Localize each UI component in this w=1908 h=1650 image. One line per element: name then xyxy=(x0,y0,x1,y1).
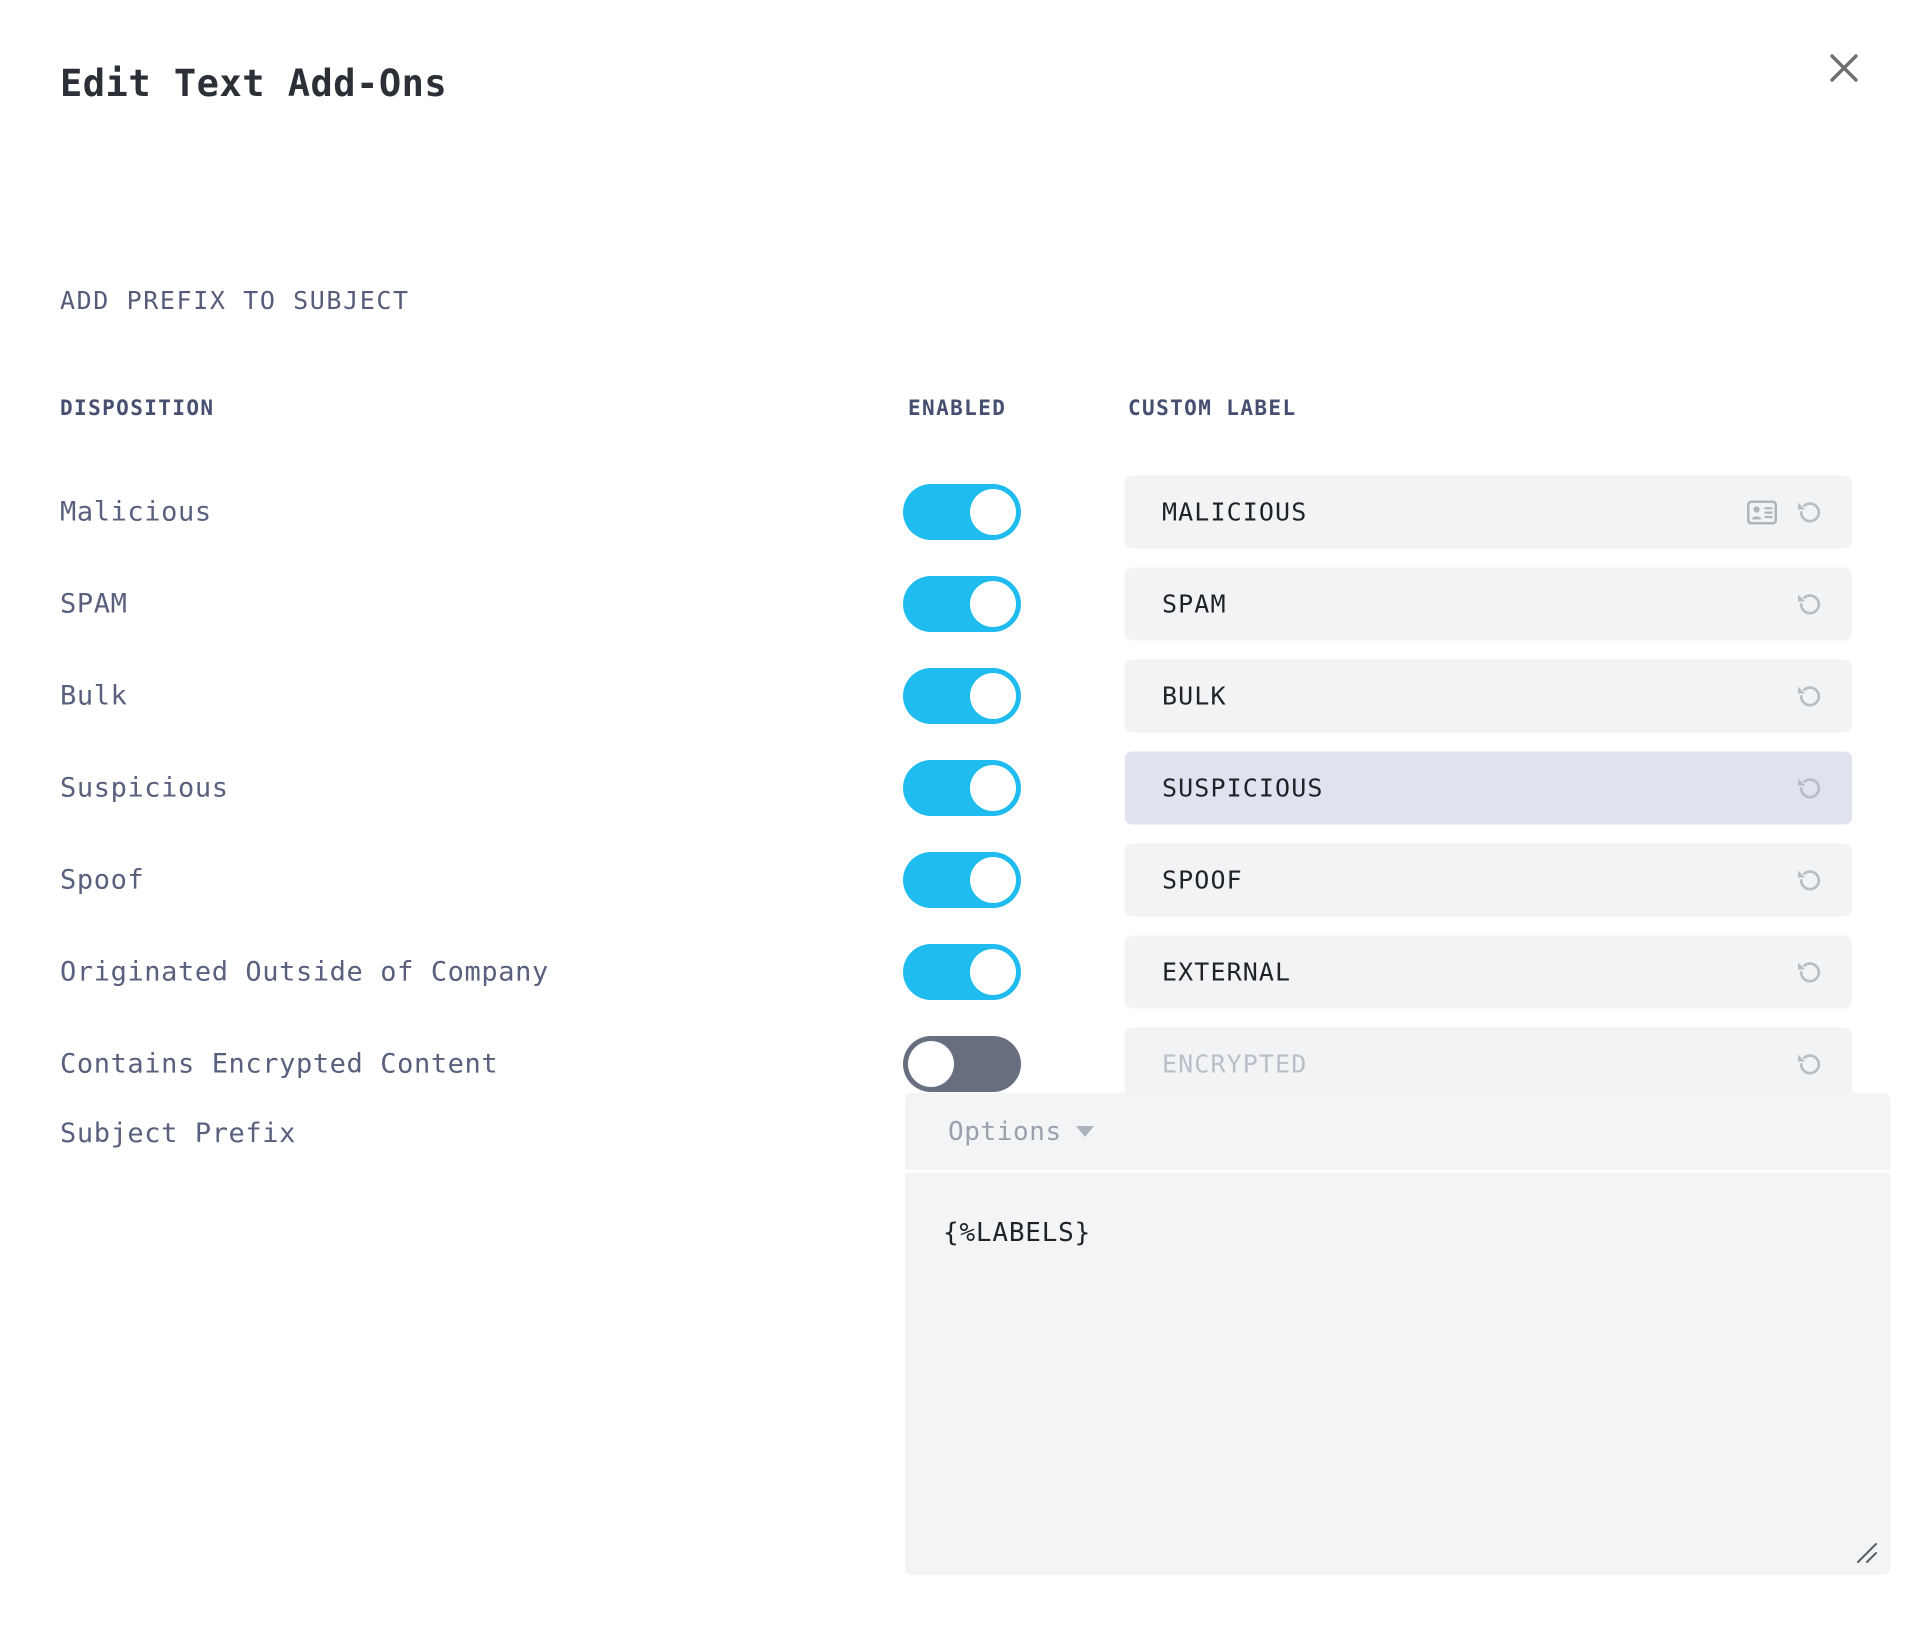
reset-icon xyxy=(1794,864,1826,896)
disposition-label: Originated Outside of Company xyxy=(60,957,549,988)
table-row: SpoofSPOOF xyxy=(0,834,1908,926)
custom-label-input[interactable]: ENCRYPTED xyxy=(1125,1028,1852,1101)
enabled-toggle[interactable] xyxy=(903,1036,1021,1092)
custom-label-input[interactable]: BULK xyxy=(1125,660,1852,733)
options-dropdown[interactable]: Options xyxy=(905,1093,1890,1170)
table-row: SuspiciousSUSPICIOUS xyxy=(0,742,1908,834)
custom-label-value: BULK xyxy=(1162,682,1227,711)
custom-label-value: SPAM xyxy=(1162,590,1227,619)
field-icon-group xyxy=(1792,586,1828,622)
custom-label-input[interactable]: SPAM xyxy=(1125,568,1852,641)
enabled-toggle[interactable] xyxy=(903,576,1021,632)
reset-button[interactable] xyxy=(1792,862,1828,898)
enabled-toggle[interactable] xyxy=(903,484,1021,540)
reset-icon xyxy=(1794,772,1826,804)
column-header-disposition: DISPOSITION xyxy=(60,396,214,420)
custom-label-value: EXTERNAL xyxy=(1162,958,1291,987)
reset-icon xyxy=(1794,680,1826,712)
toggle-knob xyxy=(908,1041,954,1087)
page-title: Edit Text Add-Ons xyxy=(60,62,447,105)
enabled-toggle[interactable] xyxy=(903,852,1021,908)
table-row: Originated Outside of CompanyEXTERNAL xyxy=(0,926,1908,1018)
toggle-knob xyxy=(970,765,1016,811)
disposition-label: Malicious xyxy=(60,497,212,528)
field-icon-group xyxy=(1792,862,1828,898)
disposition-label: Spoof xyxy=(60,865,144,896)
subject-prefix-textarea[interactable]: {%LABELS} xyxy=(905,1173,1890,1575)
field-icon-group xyxy=(1792,770,1828,806)
toggle-knob xyxy=(970,857,1016,903)
toggle-knob xyxy=(970,581,1016,627)
field-icon-group xyxy=(1744,494,1828,530)
reset-button[interactable] xyxy=(1792,586,1828,622)
reset-icon xyxy=(1794,588,1826,620)
subject-prefix-textarea-value: {%LABELS} xyxy=(943,1218,1091,1248)
custom-label-input[interactable]: MALICIOUS xyxy=(1125,476,1852,549)
custom-label-input[interactable]: SPOOF xyxy=(1125,844,1852,917)
enabled-toggle[interactable] xyxy=(903,760,1021,816)
toggle-knob xyxy=(970,673,1016,719)
custom-label-value: ENCRYPTED xyxy=(1162,1050,1307,1079)
table-row: BulkBULK xyxy=(0,650,1908,742)
options-dropdown-label: Options xyxy=(948,1117,1062,1147)
reset-button[interactable] xyxy=(1792,1046,1828,1082)
field-icon-group xyxy=(1792,1046,1828,1082)
column-header-custom-label: CUSTOM LABEL xyxy=(1128,396,1297,420)
reset-icon xyxy=(1794,496,1826,528)
disposition-label: Contains Encrypted Content xyxy=(60,1049,498,1080)
reset-button[interactable] xyxy=(1792,954,1828,990)
toggle-knob xyxy=(970,949,1016,995)
table-row: MaliciousMALICIOUS xyxy=(0,466,1908,558)
custom-label-input[interactable]: SUSPICIOUS xyxy=(1125,752,1852,825)
reset-button[interactable] xyxy=(1792,494,1828,530)
edit-text-addons-dialog: Edit Text Add-Ons ADD PREFIX TO SUBJECT … xyxy=(0,0,1908,1650)
reset-icon xyxy=(1794,956,1826,988)
reset-icon xyxy=(1794,1048,1826,1080)
column-header-enabled: ENABLED xyxy=(908,396,1006,420)
custom-label-value: MALICIOUS xyxy=(1162,498,1307,527)
disposition-label: SPAM xyxy=(60,589,127,620)
disposition-label: Bulk xyxy=(60,681,127,712)
section-label: ADD PREFIX TO SUBJECT xyxy=(60,286,410,315)
subject-prefix-label: Subject Prefix xyxy=(60,1118,296,1149)
contact-card-icon xyxy=(1747,500,1777,524)
custom-label-value: SPOOF xyxy=(1162,866,1243,895)
enabled-toggle[interactable] xyxy=(903,944,1021,1000)
resize-grip-icon[interactable] xyxy=(1854,1540,1880,1566)
custom-label-value: SUSPICIOUS xyxy=(1162,774,1324,803)
reset-button[interactable] xyxy=(1792,678,1828,714)
enabled-toggle[interactable] xyxy=(903,668,1021,724)
close-button[interactable] xyxy=(1812,36,1876,100)
toggle-knob xyxy=(970,489,1016,535)
close-icon xyxy=(1827,51,1861,85)
chevron-down-icon xyxy=(1076,1126,1094,1137)
field-icon-group xyxy=(1792,954,1828,990)
custom-label-input[interactable]: EXTERNAL xyxy=(1125,936,1852,1009)
field-icon-group xyxy=(1792,678,1828,714)
contact-card-button[interactable] xyxy=(1744,494,1780,530)
reset-button[interactable] xyxy=(1792,770,1828,806)
disposition-label: Suspicious xyxy=(60,773,229,804)
table-row: SPAMSPAM xyxy=(0,558,1908,650)
